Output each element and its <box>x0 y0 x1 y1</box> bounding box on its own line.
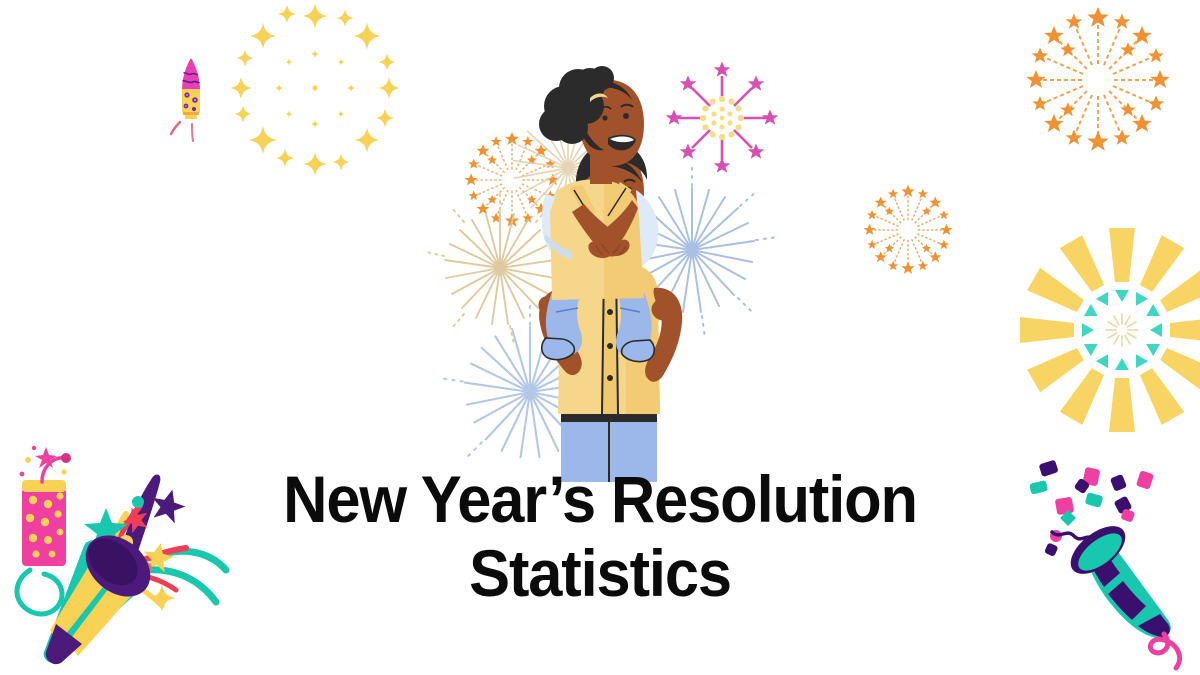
sunburst-yellow-teal-right <box>1020 228 1200 432</box>
poster-canvas: New Year’s Resolution Statistics <box>0 0 1200 675</box>
firecracker-rocket <box>158 48 228 148</box>
page-title: New Year’s Resolution Statistics <box>0 462 1200 610</box>
title-line-1: New Year’s Resolution <box>42 462 1158 536</box>
couple-celebrating-illustration <box>486 62 726 482</box>
firework-orange-stars-mid-right <box>863 185 952 274</box>
firework-orange-stars-top-right <box>1026 7 1170 151</box>
title-line-2: Statistics <box>42 536 1158 610</box>
firework-yellow-stars-top-left <box>230 3 400 176</box>
